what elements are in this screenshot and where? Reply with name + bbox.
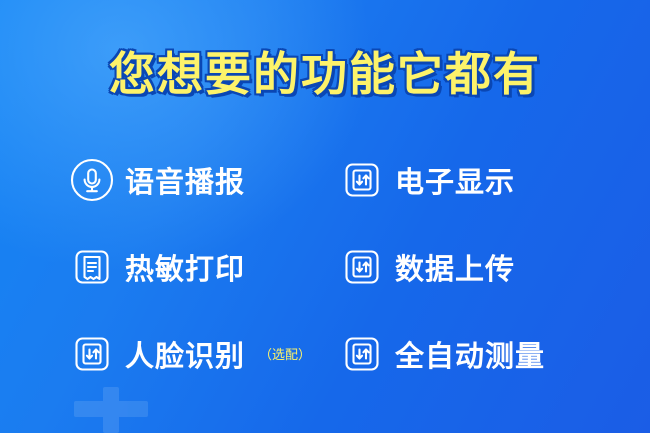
feature-sub-label: （选配）	[259, 344, 311, 363]
microphone-icon	[70, 158, 114, 202]
auto-measure-icon	[340, 332, 384, 376]
display-screen-icon	[340, 158, 384, 202]
feature-label: 全自动测量	[395, 333, 545, 375]
feature-label: 人脸识别	[125, 333, 245, 375]
face-recognition-icon	[70, 332, 114, 376]
feature-item-thermal-printing: 热敏打印	[70, 245, 340, 289]
data-upload-icon	[340, 245, 384, 289]
feature-label: 热敏打印	[125, 246, 245, 288]
feature-label: 数据上传	[395, 246, 515, 288]
feature-item-data-upload: 数据上传	[340, 245, 600, 289]
feature-item-electronic-display: 电子显示	[340, 158, 600, 202]
feature-label: 电子显示	[395, 159, 515, 201]
feature-list: 语音播报 电子显示	[70, 136, 600, 397]
thermal-printer-icon	[70, 245, 114, 289]
feature-item-auto-measurement: 全自动测量	[340, 332, 600, 376]
cross-watermark-horizontal-bar	[74, 401, 148, 417]
promo-poster: 您想要的功能它都有 语音播报	[0, 0, 650, 433]
feature-item-voice-broadcast: 语音播报	[70, 158, 340, 202]
page-title: 您想要的功能它都有	[0, 38, 650, 104]
feature-item-face-recognition: 人脸识别 （选配）	[70, 332, 340, 376]
feature-label: 语音播报	[125, 159, 245, 201]
